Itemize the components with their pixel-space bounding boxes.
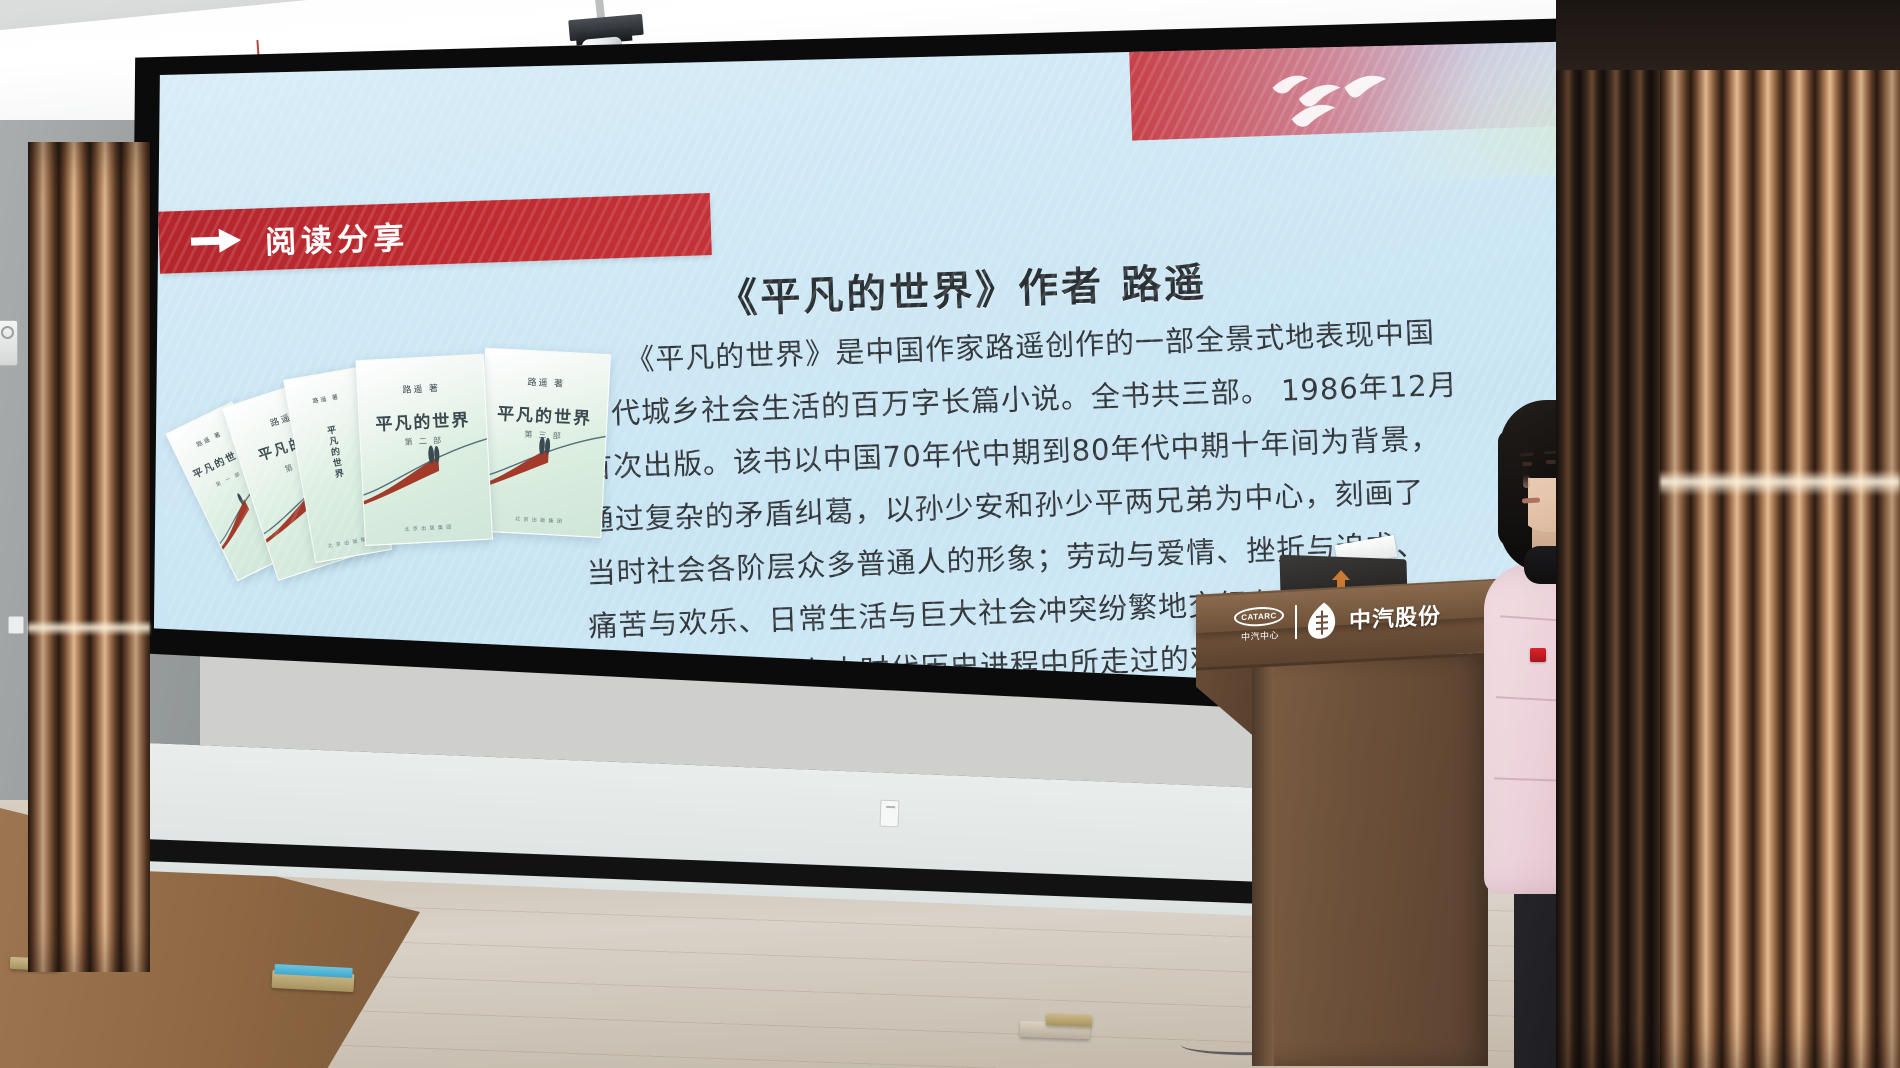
book-title-label: 平凡的世界 [359, 405, 486, 436]
book-publisher-label: 北 京 出 版 集 团 [365, 521, 491, 534]
slide-presenter-credit: 分享人： 黄冬玲 港区 [672, 702, 1090, 767]
panel-light-glare [1660, 470, 1900, 496]
panel-light-glare [28, 620, 150, 636]
book-cover: 路遥 著 平凡的世界 第 二 部 北 京 出 版 集 团 [356, 354, 493, 546]
conference-room-scene: 阅读分享 《平凡的世界》作者 路遥 《平凡的世界》是中国作家路遥创作的一部全景式… [0, 0, 1900, 1068]
podium-column [1252, 654, 1488, 1066]
wall-socket-icon[interactable] [880, 800, 900, 828]
presenter-hair-left [1498, 430, 1528, 548]
bronze-fluted-wall-panel [28, 142, 150, 972]
catarc-mark: CATARC 中汽中心 [1234, 605, 1286, 643]
catarc-en-label: CATARC [1234, 605, 1284, 627]
bronze-fluted-wall-panel [1660, 0, 1900, 1068]
party-badge-icon [1530, 648, 1546, 662]
wall-socket-icon[interactable] [8, 616, 24, 634]
catarc-tower-logo-icon [1306, 600, 1340, 642]
presenter-eye [1546, 460, 1556, 464]
podium-column-edge [1252, 654, 1274, 1066]
book-hill-illustration-icon [356, 432, 493, 513]
bronze-fluted-wall-panel [1556, 0, 1668, 1068]
panel-top-shadow [1556, 0, 1900, 70]
podium-brand-label: 中汽股份 [1349, 598, 1441, 635]
floor-socket-plate-icon[interactable] [1046, 1013, 1092, 1027]
book-hill-illustration-icon [475, 425, 611, 505]
book-cover: 路遥 著 平凡的世界 第 三 部 北 京 出 版 集 团 [475, 348, 611, 538]
presenter-mouth [1522, 498, 1540, 504]
presenter-nose [1523, 474, 1530, 488]
logo-divider [1295, 605, 1297, 639]
book-publisher-label: 北 京 出 版 集 团 [477, 513, 601, 527]
catarc-cn-label: 中汽中心 [1234, 627, 1286, 643]
book-author-label: 路遥 著 [484, 373, 609, 393]
wall-device-dial-icon [1, 326, 14, 339]
presenter-eye [1522, 462, 1532, 466]
book-author-label: 路遥 著 [358, 379, 485, 398]
